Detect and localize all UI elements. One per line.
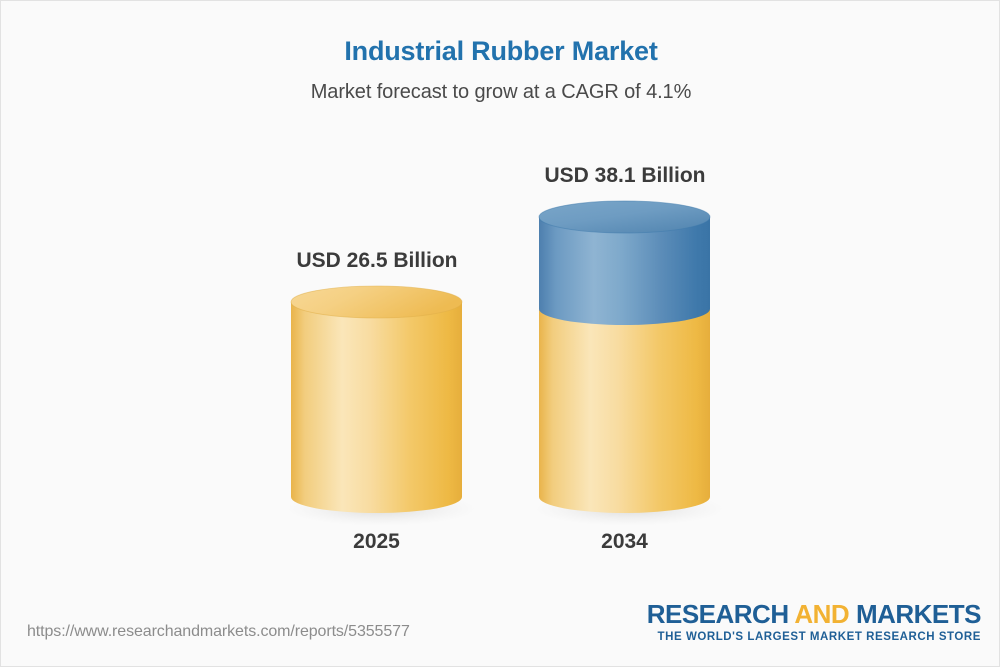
- brand-logo-tagline: THE WORLD'S LARGEST MARKET RESEARCH STOR…: [647, 632, 981, 644]
- brand-logo-wordmark: RESEARCH AND MARKETS: [647, 601, 981, 627]
- cylinder-2034: [525, 1, 725, 667]
- brand-logo-markets: MARKETS: [849, 599, 981, 629]
- brand-logo-research: RESEARCH: [647, 599, 795, 629]
- cylinder-segment-base-2034: [539, 309, 710, 513]
- cylinder-body-2025: [291, 302, 462, 513]
- brand-logo-and: AND: [794, 599, 849, 629]
- cylinder-2025: [277, 1, 477, 667]
- source-url[interactable]: https://www.researchandmarkets.com/repor…: [27, 623, 410, 641]
- chart-plot-area: USD 26.5 Billion: [1, 1, 1000, 667]
- brand-logo: RESEARCH AND MARKETS THE WORLD'S LARGEST…: [647, 601, 981, 644]
- infographic-canvas: Industrial Rubber Market Market forecast…: [0, 0, 1000, 667]
- category-label-2025: 2025: [291, 530, 462, 554]
- category-label-2034: 2034: [539, 530, 710, 554]
